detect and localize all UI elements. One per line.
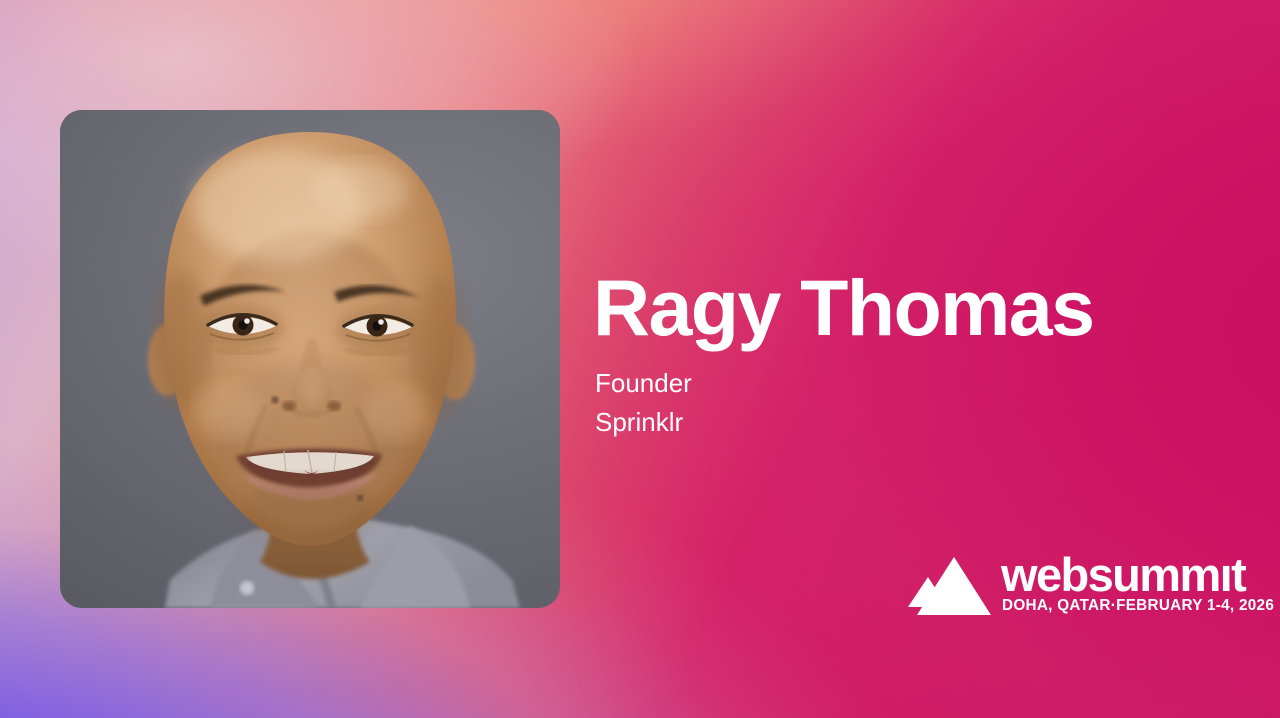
websummit-logo: websummıt DOHA, QATAR·FEBRUARY 1-4, 2026 — [908, 551, 1232, 621]
speaker-name: Ragy Thomas — [593, 268, 1093, 347]
mountain-peaks-icon — [908, 555, 992, 617]
speaker-company: Sprinklr — [595, 409, 683, 435]
speaker-photo-card — [60, 110, 560, 608]
speaker-role: Founder — [595, 370, 692, 396]
speaker-announcement-card: Ragy Thomas Founder Sprinklr websummıt D… — [0, 0, 1280, 718]
event-location-date: DOHA, QATAR·FEBRUARY 1-4, 2026 — [1002, 598, 1274, 614]
speaker-portrait-image — [60, 110, 560, 608]
websummit-wordmark: websummıt — [1001, 551, 1245, 598]
